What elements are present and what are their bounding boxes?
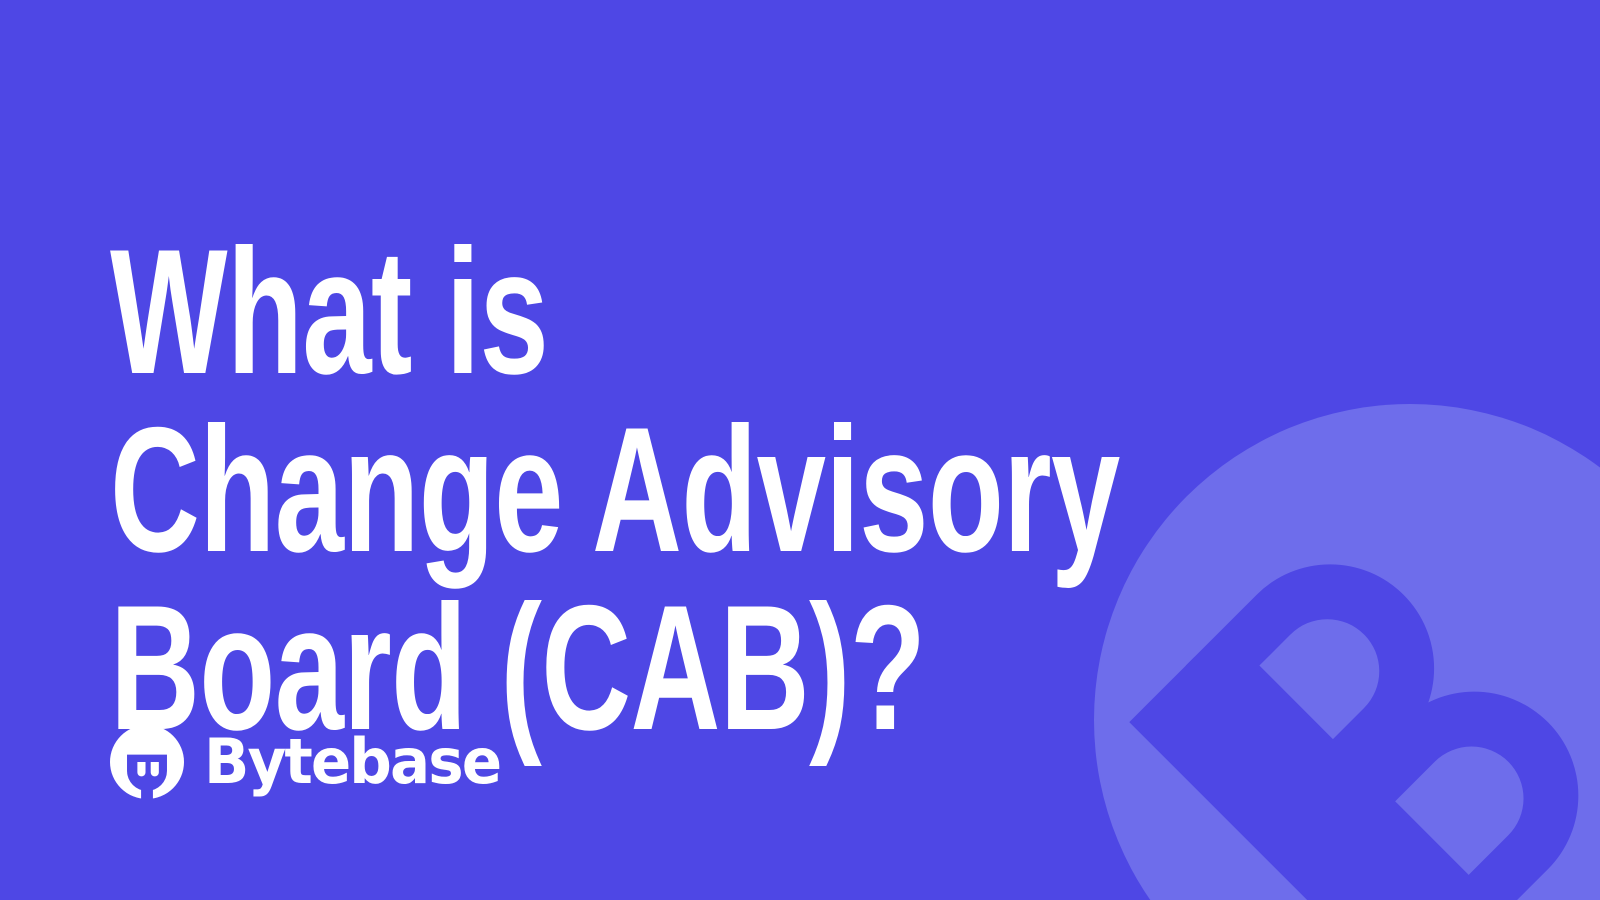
brand-lockup: Bytebase [110,725,513,799]
slide-canvas: What is Change Advisory Board (CAB)? [0,0,1600,900]
headline-line-1: What is [110,223,1120,401]
bytebase-logo-icon [110,725,184,799]
page-title: What is Change Advisory Board (CAB)? [110,223,1120,757]
bytebase-b-watermark-icon [1090,395,1600,900]
headline-line-2: Change Advisory [110,401,1120,579]
brand-wordmark: Bytebase [204,731,500,793]
